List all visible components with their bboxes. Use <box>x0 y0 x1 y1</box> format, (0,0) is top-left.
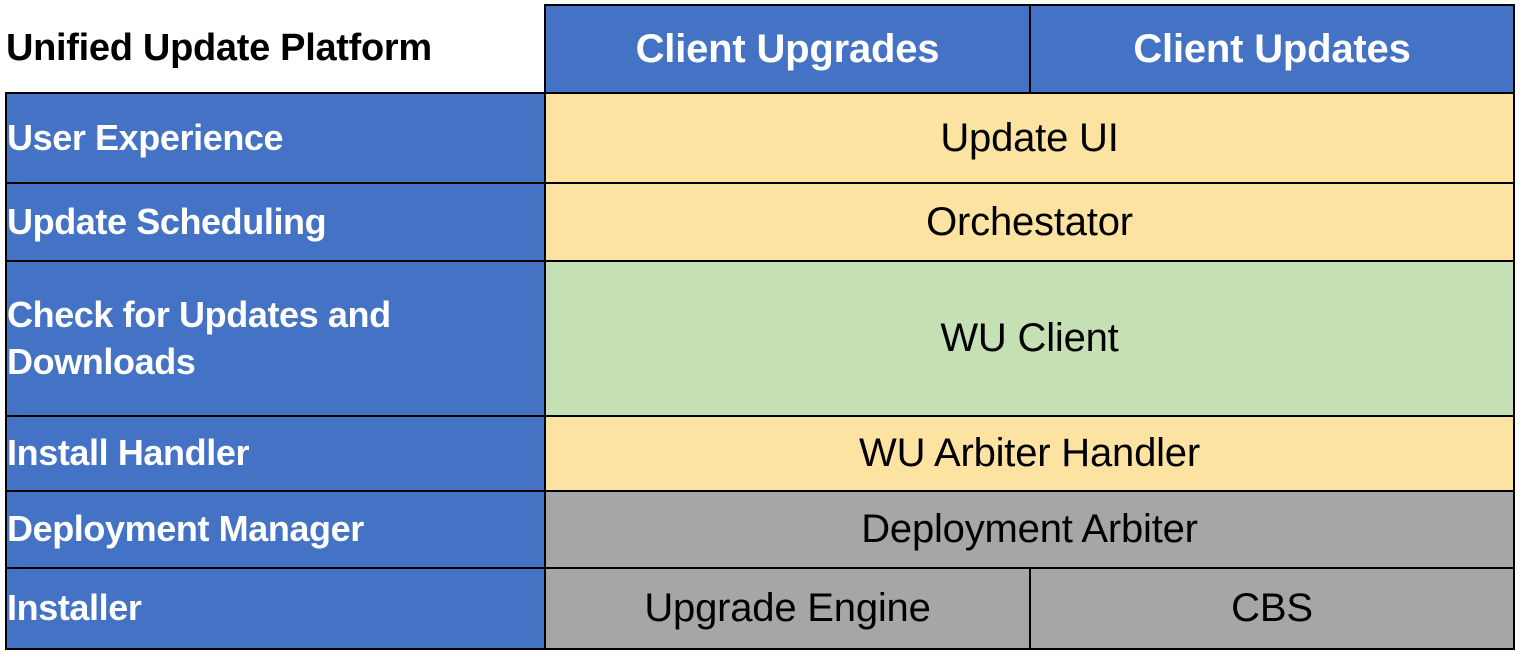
cell-orchestator: Orchestator <box>545 183 1514 261</box>
cell-update-ui: Update UI <box>545 93 1514 183</box>
row-label-install-handler: Install Handler <box>6 416 545 491</box>
table-row: Installer Upgrade Engine CBS <box>6 568 1514 649</box>
table-row: Install Handler WU Arbiter Handler <box>6 416 1514 491</box>
table-header-row: Unified Update Platform Client Upgrades … <box>6 5 1514 93</box>
table-row: Update Scheduling Orchestator <box>6 183 1514 261</box>
cell-wu-client: WU Client <box>545 261 1514 416</box>
table-row: User Experience Update UI <box>6 93 1514 183</box>
cell-cbs: CBS <box>1030 568 1514 649</box>
row-label-installer: Installer <box>6 568 545 649</box>
cell-wu-arbiter-handler: WU Arbiter Handler <box>545 416 1514 491</box>
table-row: Check for Updates and Downloads WU Clien… <box>6 261 1514 416</box>
column-header-client-upgrades: Client Upgrades <box>545 5 1030 93</box>
cell-deployment-arbiter: Deployment Arbiter <box>545 491 1514 568</box>
cell-upgrade-engine: Upgrade Engine <box>545 568 1030 649</box>
unified-update-platform-table: Unified Update Platform Client Upgrades … <box>5 4 1515 650</box>
row-label-user-experience: User Experience <box>6 93 545 183</box>
table-title: Unified Update Platform <box>6 5 545 93</box>
row-label-deployment-manager: Deployment Manager <box>6 491 545 568</box>
row-label-check-for-updates-and-downloads: Check for Updates and Downloads <box>6 261 545 416</box>
row-label-update-scheduling: Update Scheduling <box>6 183 545 261</box>
table-row: Deployment Manager Deployment Arbiter <box>6 491 1514 568</box>
column-header-client-updates: Client Updates <box>1030 5 1514 93</box>
